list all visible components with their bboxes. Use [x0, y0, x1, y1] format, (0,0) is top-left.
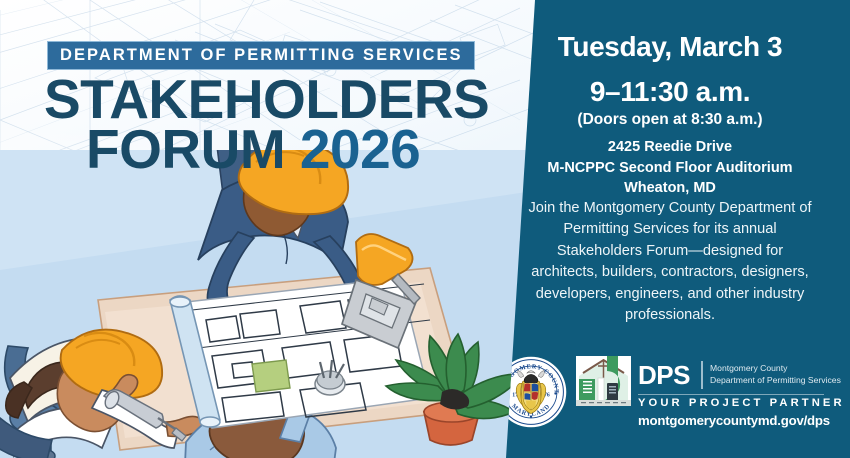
dps-logo-lockup: DPS Montgomery County Department of Perm…: [576, 354, 824, 434]
event-flyer: DEPARTMENT OF PERMITTING SERVICES STAKEH…: [0, 0, 850, 458]
dps-tagline: YOUR PROJECT PARTNER: [638, 398, 824, 409]
dps-horizontal-rule: [638, 394, 824, 395]
dps-divider: [701, 361, 703, 389]
meeting-illustration: [0, 150, 540, 458]
dps-subtitle: Montgomery County Department of Permitti…: [710, 363, 841, 386]
event-address: 2425 Reedie Drive M-NCPPC Second Floor A…: [490, 137, 850, 199]
dps-house-icon: [576, 356, 631, 406]
page-title-year: 2026: [300, 118, 420, 180]
page-title-forum: FORUM: [86, 118, 285, 180]
event-info-panel: Tuesday, March 3 9–11:30 a.m. (Doors ope…: [490, 0, 850, 458]
page-title-line2: FORUM 2026: [86, 122, 420, 177]
dps-subtitle-line2: Department of Permitting Services: [710, 375, 841, 387]
dps-wordmark: DPS: [638, 362, 690, 388]
address-line-1: 2425 Reedie Drive: [490, 137, 850, 158]
event-time: 9–11:30 a.m.: [490, 78, 850, 106]
dps-website-url[interactable]: montgomerycountymd.gov/dps: [638, 414, 824, 427]
event-date: Tuesday, March 3: [490, 33, 850, 61]
address-line-3: Wheaton, MD: [490, 178, 850, 199]
banner-label: DEPARTMENT OF PERMITTING SERVICES: [60, 47, 463, 64]
logo-row: MONTGOMERY COUNTY MARYLAND 17 76: [490, 352, 850, 442]
department-banner: DEPARTMENT OF PERMITTING SERVICES: [47, 41, 475, 70]
address-line-2: M-NCPPC Second Floor Auditorium: [490, 158, 850, 179]
dps-subtitle-line1: Montgomery County: [710, 363, 841, 375]
event-doors-note: (Doors open at 8:30 a.m.): [490, 112, 850, 128]
event-info-content: Tuesday, March 3 9–11:30 a.m. (Doors ope…: [490, 0, 850, 458]
event-description: Join the Montgomery County Department of…: [524, 198, 816, 327]
